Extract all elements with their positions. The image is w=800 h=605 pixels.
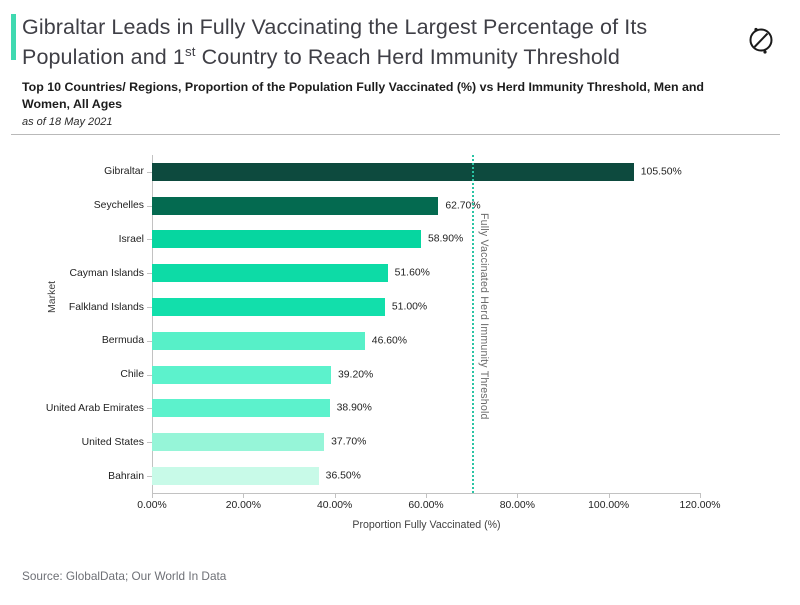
chart-header: Gibraltar Leads in Fully Vaccinating the… (0, 0, 800, 128)
x-axis-tick-label: 40.00% (317, 500, 352, 511)
category-label: Seychelles (94, 200, 144, 211)
bar[interactable]: 39.20% (152, 366, 331, 384)
x-axis-tick (517, 493, 518, 498)
bar-row: Falkland Islands51.00% (152, 290, 700, 324)
x-axis-tick-label: 0.00% (137, 500, 166, 511)
bar-row: Chile39.20% (152, 358, 700, 392)
x-axis-tick-label: 80.00% (500, 500, 535, 511)
source-note: Source: GlobalData; Our World In Data (22, 569, 226, 583)
bar-value-label: 51.00% (392, 302, 427, 313)
x-axis-tick-label: 60.00% (408, 500, 443, 511)
bar[interactable]: 51.00% (152, 298, 385, 316)
bar-value-label: 38.90% (337, 403, 372, 414)
category-label: United Arab Emirates (46, 403, 144, 414)
page-title-ordinal-suffix: st (185, 44, 196, 59)
bar-value-label: 58.90% (428, 234, 463, 245)
bar-row: Gibraltar105.50% (152, 155, 700, 189)
bar-value-label: 39.20% (338, 369, 373, 380)
x-axis-tick-label: 120.00% (679, 500, 720, 511)
page-title-part2: Country to Reach Herd Immunity Threshold (196, 45, 620, 69)
bar-row: Seychelles62.70% (152, 189, 700, 223)
header-divider (11, 134, 780, 135)
bar[interactable]: 58.90% (152, 230, 421, 248)
bar-value-label: 51.60% (395, 268, 430, 279)
category-label: Chile (120, 369, 144, 380)
x-axis-tick (700, 493, 701, 498)
bar[interactable]: 36.50% (152, 467, 319, 485)
x-axis-tick (335, 493, 336, 498)
bar[interactable]: 37.70% (152, 433, 324, 451)
x-axis-tick (243, 493, 244, 498)
threshold-label: Fully Vaccinated Herd Immunity Threshold (478, 213, 490, 420)
x-axis-tick-label: 100.00% (588, 500, 629, 511)
bar-value-label: 62.70% (445, 200, 480, 211)
bar-row: Cayman Islands51.60% (152, 256, 700, 290)
bar[interactable]: 38.90% (152, 399, 330, 417)
bar-row: United States37.70% (152, 425, 700, 459)
bar-row: Israel58.90% (152, 223, 700, 257)
category-label: Falkland Islands (69, 302, 144, 313)
category-label: Gibraltar (104, 166, 144, 177)
bar-value-label: 37.70% (331, 437, 366, 448)
as-of-date: as of 18 May 2021 (22, 116, 780, 128)
bar-row: United Arab Emirates38.90% (152, 392, 700, 426)
bar[interactable]: 62.70% (152, 197, 438, 215)
category-label: Israel (119, 234, 144, 245)
category-label: Bahrain (108, 471, 144, 482)
bar-value-label: 46.60% (372, 335, 407, 346)
page-title: Gibraltar Leads in Fully Vaccinating the… (22, 12, 747, 72)
bar-row: Bermuda46.60% (152, 324, 700, 358)
bar-value-label: 105.50% (641, 166, 682, 177)
threshold-line (472, 155, 474, 493)
x-axis-tick (426, 493, 427, 498)
x-axis-tick (609, 493, 610, 498)
plot-area: Gibraltar105.50%Seychelles62.70%Israel58… (152, 155, 700, 493)
bar[interactable]: 51.60% (152, 264, 388, 282)
x-axis-tick (152, 493, 153, 498)
title-accent-bar (11, 14, 16, 60)
y-axis-title: Market (46, 281, 58, 313)
x-axis-title: Proportion Fully Vaccinated (%) (152, 519, 701, 531)
bar[interactable]: 105.50% (152, 163, 634, 181)
category-label: Cayman Islands (69, 268, 144, 279)
page-subtitle: Top 10 Countries/ Regions, Proportion of… (22, 79, 742, 113)
category-label: United States (82, 437, 144, 448)
globaldata-logo-icon (744, 22, 778, 56)
chart-container: Market Gibraltar105.50%Seychelles62.70%I… (0, 143, 800, 533)
category-label: Bermuda (102, 335, 144, 346)
bar-row: Bahrain36.50% (152, 459, 700, 493)
bar[interactable]: 46.60% (152, 332, 365, 350)
x-axis-tick-label: 20.00% (226, 500, 261, 511)
bar-value-label: 36.50% (326, 471, 361, 482)
